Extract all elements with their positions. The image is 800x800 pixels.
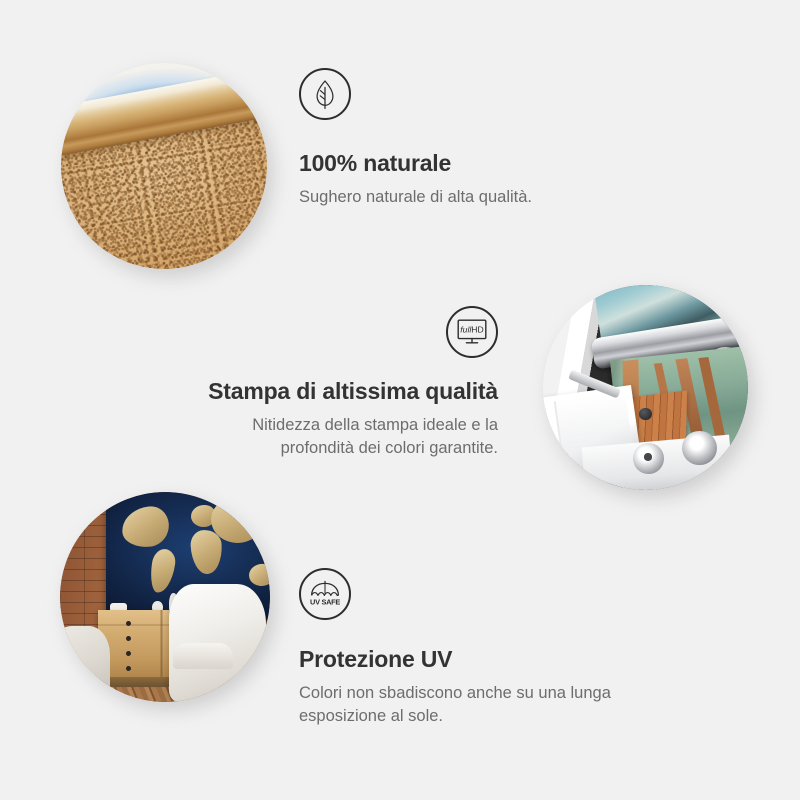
interior-world-map-mural-photo xyxy=(60,492,270,702)
map-continent-north-america xyxy=(120,505,171,550)
feature-print-title: Stampa di altissima qualità xyxy=(183,378,498,405)
large-format-printer-photo xyxy=(543,285,748,490)
dresser-knob xyxy=(126,636,131,641)
feature-print-icon-wrap: fullHD xyxy=(183,306,498,358)
map-continent-australia xyxy=(247,562,270,587)
map-continent-south-america xyxy=(148,547,177,594)
feature-print-quality: fullHD Stampa di altissima qualità Nitid… xyxy=(183,306,498,461)
room-photo-white-armchair xyxy=(169,584,266,702)
room-photo-left-armchair xyxy=(60,626,110,697)
feature-banner: 100% naturale Sughero naturale di alta q… xyxy=(0,0,800,800)
feature-natural: 100% naturale Sughero naturale di alta q… xyxy=(299,68,532,209)
dresser-knob xyxy=(126,621,131,626)
dresser-knob xyxy=(126,651,131,656)
feature-print-description: Nitidezza della stampa ideale e la profo… xyxy=(183,414,498,461)
feature-natural-description: Sughero naturale di alta qualità. xyxy=(299,186,532,209)
feature-print-description-line: Nitidezza della stampa ideale e la xyxy=(183,414,498,437)
feature-natural-description-line: Sughero naturale di alta qualità. xyxy=(299,186,532,209)
feature-print-description-line: profondità dei colori garantite. xyxy=(183,437,498,460)
leaf-icon xyxy=(299,68,351,120)
feature-natural-title: 100% naturale xyxy=(299,150,532,177)
feature-uv-description: Colori non sbadiscono anche su una lunga… xyxy=(299,682,611,729)
umbrella-uv-safe-icon: UV SAFE xyxy=(299,568,351,620)
fullhd-monitor-icon: fullHD xyxy=(446,306,498,358)
svg-text:fullHD: fullHD xyxy=(460,325,483,335)
uv-safe-label: UV SAFE xyxy=(310,598,340,607)
dresser-knob xyxy=(126,666,131,671)
fullhd-label-regular: HD xyxy=(471,325,483,335)
printer-photo-bottom-wheel xyxy=(633,443,664,474)
feature-uv-title: Protezione UV xyxy=(299,646,611,673)
cork-board-closeup-photo xyxy=(61,63,267,269)
feature-uv-protection: UV SAFE Protezione UV Colori non sbadisc… xyxy=(299,568,611,729)
feature-uv-description-line: esposizione al sole. xyxy=(299,705,611,728)
feature-uv-description-line: Colori non sbadiscono anche su una lunga xyxy=(299,682,611,705)
printer-photo-knob xyxy=(639,408,651,420)
